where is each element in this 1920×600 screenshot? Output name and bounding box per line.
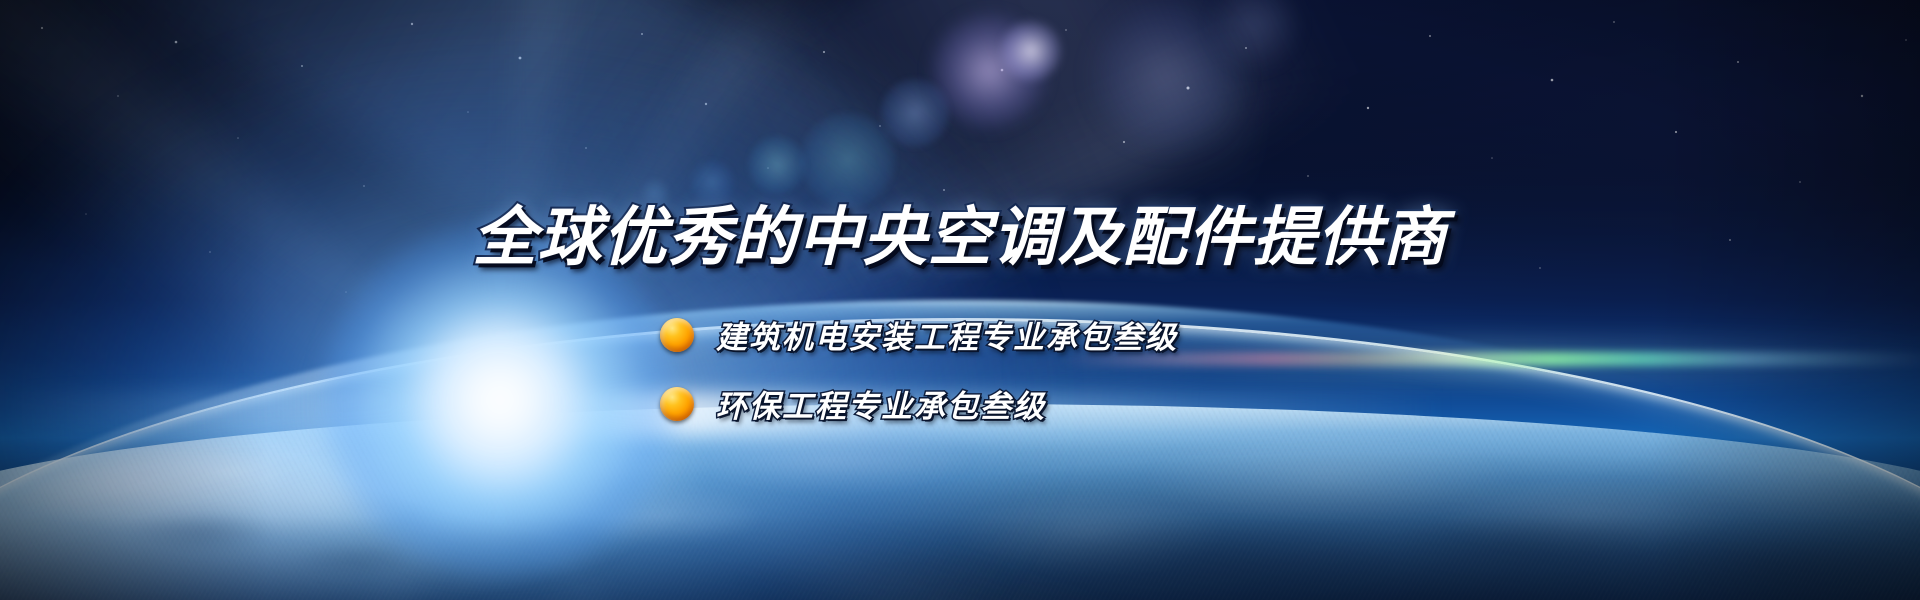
page-title: 全球优秀的中央空调及配件提供商 [0,206,1920,270]
hero-banner: 全球优秀的中央空调及配件提供商 建筑机电安装工程专业承包叁级 环保工程专业承包叁… [0,0,1920,600]
list-item: 环保工程专业承包叁级 [660,381,1260,426]
list-item-label: 建筑机电安装工程专业承包叁级 [716,312,1178,357]
list-item-label: 环保工程专业承包叁级 [716,381,1046,426]
certification-list: 建筑机电安装工程专业承包叁级 环保工程专业承包叁级 [0,312,1920,426]
orange-dot-icon [660,318,694,352]
list-item: 建筑机电安装工程专业承包叁级 [660,312,1260,357]
banner-content: 全球优秀的中央空调及配件提供商 建筑机电安装工程专业承包叁级 环保工程专业承包叁… [0,0,1920,600]
orange-dot-icon [660,387,694,421]
